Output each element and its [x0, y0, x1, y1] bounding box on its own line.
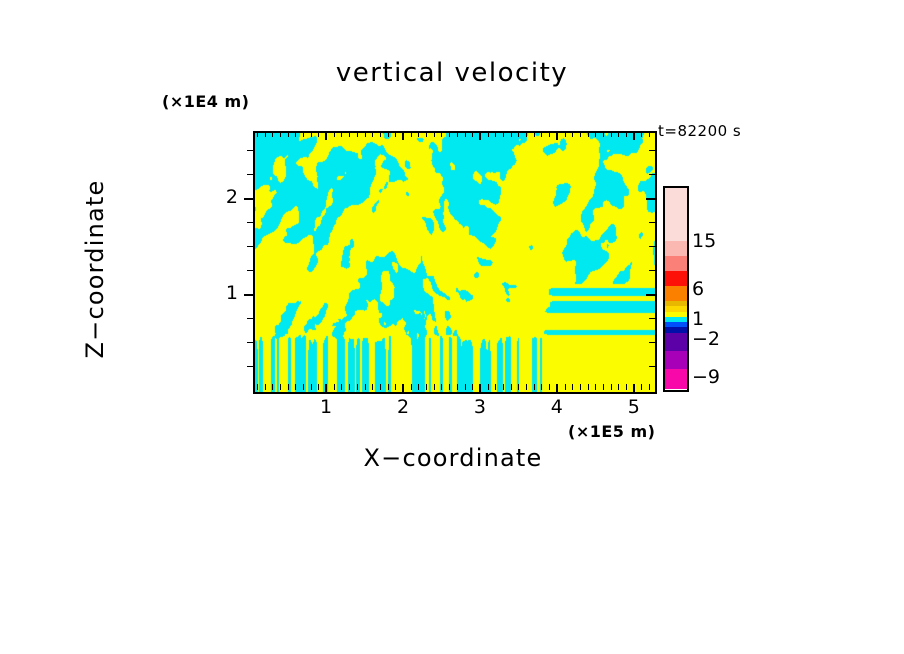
- x-tick: [357, 384, 358, 390]
- x-tick: [457, 384, 458, 390]
- x-tick-top: [426, 131, 427, 137]
- x-tick-top: [595, 131, 596, 137]
- x-tick-top: [565, 131, 566, 137]
- x-tick-top: [257, 131, 258, 137]
- x-tick: [365, 384, 366, 390]
- x-tick: [518, 384, 519, 390]
- x-tick: [418, 384, 419, 390]
- x-tick: [257, 384, 258, 390]
- x-tick-top: [380, 131, 381, 137]
- x-tick: [265, 384, 266, 390]
- x-tick-top: [479, 131, 481, 140]
- x-tick: [380, 384, 381, 390]
- x-tick-top: [534, 131, 535, 137]
- x-tick-top: [611, 131, 612, 137]
- x-tick: [588, 384, 589, 390]
- x-tick-top: [457, 131, 458, 137]
- colorbar-tick-label: 1: [692, 308, 704, 330]
- x-tick-top: [472, 131, 473, 137]
- contour-plot-area: [253, 131, 657, 394]
- chart-canvas: vertical velocity (×1E4 m) t=82200 s 123…: [0, 0, 904, 654]
- x-tick: [388, 384, 389, 390]
- x-tick-top: [518, 131, 519, 137]
- chart-title: vertical velocity: [0, 58, 904, 88]
- x-tick: [272, 384, 273, 390]
- x-tick: [641, 384, 642, 390]
- y-tick-right: [649, 366, 655, 367]
- colorbar-tick-label: 15: [692, 230, 716, 252]
- y-tick-right: [646, 294, 655, 296]
- x-tick-top: [357, 131, 358, 137]
- x-tick-top: [365, 131, 366, 137]
- z-axis-unit-label: (×1E4 m): [162, 92, 249, 111]
- time-annotation: t=82200 s: [658, 122, 741, 140]
- x-tick-top: [388, 131, 389, 137]
- x-axis-unit-label: (×1E5 m): [568, 422, 655, 441]
- colorbar-band: [665, 369, 687, 389]
- x-tick-top: [434, 131, 435, 137]
- x-tick: [311, 384, 312, 390]
- y-tick-right: [649, 174, 655, 175]
- x-tick: [580, 384, 581, 390]
- y-tick: [244, 294, 253, 296]
- x-tick: [288, 384, 289, 390]
- x-tick-top: [295, 131, 296, 137]
- x-tick-top: [265, 131, 266, 137]
- y-tick: [247, 366, 253, 367]
- x-tick-top: [495, 131, 496, 137]
- x-tick-top: [633, 131, 635, 140]
- y-tick: [247, 174, 253, 175]
- x-tick: [318, 384, 319, 390]
- x-tick-top: [311, 131, 312, 137]
- x-tick-top: [349, 131, 350, 137]
- x-tick-top: [526, 131, 527, 137]
- contour-field: [255, 133, 655, 392]
- x-tick: [465, 384, 466, 390]
- x-tick: [633, 384, 635, 393]
- x-tick: [649, 384, 650, 390]
- x-tick: [479, 384, 481, 393]
- x-tick: [595, 384, 596, 390]
- x-tick-top: [511, 131, 512, 137]
- x-tick-top: [649, 131, 650, 137]
- y-tick-right: [646, 198, 655, 200]
- colorbar: [663, 186, 689, 392]
- x-tick-top: [603, 131, 604, 137]
- colorbar-tick-label: 6: [692, 278, 704, 300]
- x-tick: [303, 384, 304, 390]
- x-tick: [488, 384, 489, 390]
- x-tick: [325, 384, 327, 393]
- x-tick-top: [572, 131, 573, 137]
- y-tick-right: [649, 150, 655, 151]
- y-tick-right: [649, 222, 655, 223]
- x-tick-top: [288, 131, 289, 137]
- y-tick-right: [649, 318, 655, 319]
- x-tick-top: [418, 131, 419, 137]
- x-tick: [541, 384, 542, 390]
- colorbar-band: [665, 241, 687, 256]
- x-axis-title: X−coordinate: [253, 444, 653, 472]
- x-tick-top: [411, 131, 412, 137]
- x-tick: [511, 384, 512, 390]
- x-tick-top: [549, 131, 550, 137]
- y-tick: [247, 222, 253, 223]
- x-tick: [295, 384, 296, 390]
- x-tick-top: [488, 131, 489, 137]
- x-tick-top: [318, 131, 319, 137]
- x-tick: [534, 384, 535, 390]
- x-tick: [618, 384, 619, 390]
- colorbar-band: [665, 188, 687, 241]
- x-tick: [334, 384, 335, 390]
- x-tick: [503, 384, 504, 390]
- x-tick-top: [334, 131, 335, 137]
- x-tick-top: [395, 131, 396, 137]
- x-tick: [626, 384, 627, 390]
- x-tick-label: 5: [614, 396, 654, 418]
- x-tick-top: [280, 131, 281, 137]
- x-tick: [549, 384, 550, 390]
- x-tick: [526, 384, 527, 390]
- x-tick-top: [641, 131, 642, 137]
- x-tick-top: [541, 131, 542, 137]
- colorbar-band: [665, 256, 687, 271]
- y-tick: [247, 246, 253, 247]
- y-tick: [247, 150, 253, 151]
- x-tick: [434, 384, 435, 390]
- x-tick-top: [402, 131, 404, 140]
- x-tick: [556, 384, 558, 393]
- y-tick-right: [649, 342, 655, 343]
- x-tick-top: [465, 131, 466, 137]
- x-tick-top: [303, 131, 304, 137]
- x-tick: [411, 384, 412, 390]
- x-tick: [280, 384, 281, 390]
- y-tick: [247, 270, 253, 271]
- x-tick-top: [588, 131, 589, 137]
- x-tick-label: 2: [383, 396, 423, 418]
- x-tick-top: [556, 131, 558, 140]
- x-tick-top: [441, 131, 442, 137]
- x-tick: [495, 384, 496, 390]
- x-tick: [449, 384, 450, 390]
- x-tick: [472, 384, 473, 390]
- x-tick-label: 1: [306, 396, 346, 418]
- x-tick-top: [580, 131, 581, 137]
- x-tick-top: [503, 131, 504, 137]
- x-tick: [565, 384, 566, 390]
- colorbar-band: [665, 271, 687, 286]
- colorbar-band: [665, 286, 687, 301]
- x-tick: [603, 384, 604, 390]
- x-tick: [441, 384, 442, 390]
- y-tick: [244, 198, 253, 200]
- x-tick-top: [341, 131, 342, 137]
- x-tick: [426, 384, 427, 390]
- y-tick-right: [649, 270, 655, 271]
- y-tick-label: 1: [208, 282, 238, 304]
- colorbar-band: [665, 351, 687, 369]
- x-tick: [611, 384, 612, 390]
- x-tick: [341, 384, 342, 390]
- x-tick-top: [618, 131, 619, 137]
- colorbar-tick-label: −9: [692, 366, 720, 388]
- colorbar-tick-label: −2: [692, 328, 720, 350]
- x-tick-top: [325, 131, 327, 140]
- y-tick: [247, 342, 253, 343]
- x-tick-top: [372, 131, 373, 137]
- x-tick-top: [272, 131, 273, 137]
- x-tick-top: [449, 131, 450, 137]
- y-tick-right: [649, 246, 655, 247]
- x-tick: [349, 384, 350, 390]
- x-tick-top: [626, 131, 627, 137]
- x-tick-label: 3: [460, 396, 500, 418]
- x-tick: [395, 384, 396, 390]
- y-tick: [247, 318, 253, 319]
- y-axis-title: Z−coordinate: [81, 119, 109, 419]
- x-tick: [402, 384, 404, 393]
- x-tick: [572, 384, 573, 390]
- y-tick-label: 2: [208, 186, 238, 208]
- x-tick-label: 4: [537, 396, 577, 418]
- x-tick: [372, 384, 373, 390]
- colorbar-band: [665, 333, 687, 351]
